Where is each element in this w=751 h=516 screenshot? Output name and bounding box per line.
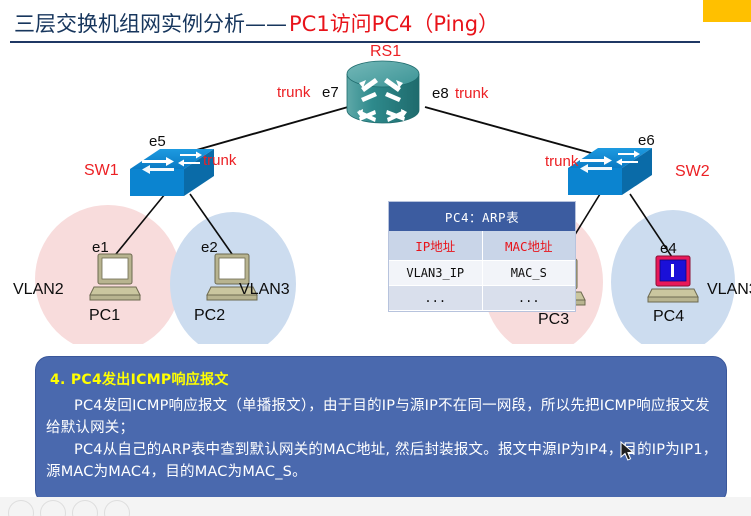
trunk-label-sw1: trunk — [203, 153, 236, 168]
page-title-sub: PC1访问PC4（Ping） — [289, 12, 499, 36]
arp-table-title: PC4：ARP表 — [389, 202, 575, 231]
sw1-label: SW1 — [84, 163, 119, 179]
rs1-router-icon — [347, 61, 419, 123]
arp-header-mac: MAC地址 — [483, 231, 576, 261]
page-title: 三层交换机组网实例分析——PC1访问PC4（Ping） — [14, 8, 499, 38]
port-label-e6: e6 — [638, 133, 655, 148]
trunk-label-sw2: trunk — [545, 154, 578, 169]
more-icon[interactable] — [104, 500, 130, 516]
port-label-e1: e1 — [92, 240, 109, 255]
trunk-label-e8: trunk — [455, 86, 488, 101]
link-rs1-sw2 — [425, 107, 602, 156]
port-label-e4: e4 — [660, 241, 677, 256]
arp-table-row: VLAN3_IP MAC_S — [389, 261, 575, 286]
mouse-cursor — [620, 441, 636, 463]
port-label-e7: e7 — [322, 85, 339, 100]
arp-table-header-row: IP地址 MAC地址 — [389, 231, 575, 261]
vlan3-right-label: VLAN3 — [707, 282, 751, 298]
network-diagram: RS1 SW1 SW2 trunk e7 e8 trunk e5 trunk e… — [0, 44, 751, 344]
pc1-computer-icon — [90, 254, 140, 300]
save-icon[interactable] — [40, 500, 66, 516]
sw2-switch-icon — [568, 148, 652, 195]
rs1-label: RS1 — [370, 44, 401, 60]
port-label-e2: e2 — [201, 240, 218, 255]
port-label-e5: e5 — [149, 134, 166, 149]
search-icon[interactable] — [72, 500, 98, 516]
explanation-paragraph-1: PC4发回ICMP响应报文（单播报文），由于目的IP与源IP不在同一网段，所以先… — [46, 395, 720, 439]
arp-cell-ip: VLAN3_IP — [389, 261, 483, 286]
accent-rectangle — [703, 0, 751, 22]
pc4-computer-icon — [648, 256, 698, 302]
explanation-box: 4. PC4发出ICMP响应报文 PC4发回ICMP响应报文（单播报文），由于目… — [35, 356, 727, 504]
pc2-label: PC2 — [194, 308, 225, 324]
pc4-label: PC4 — [653, 309, 684, 325]
diagram-graphics — [0, 44, 751, 344]
arp-cell-mac-ellipsis: ... — [483, 286, 576, 311]
arp-cell-mac: MAC_S — [483, 261, 576, 286]
slide-canvas: 三层交换机组网实例分析——PC1访问PC4（Ping） — [0, 0, 751, 516]
arp-cell-ip-ellipsis: ... — [389, 286, 483, 311]
arp-table-row: ... ... — [389, 286, 575, 311]
sw1-switch-icon — [130, 149, 214, 196]
pc1-label: PC1 — [89, 308, 120, 324]
pc3-label: PC3 — [538, 312, 569, 328]
vlan3-left-label: VLAN3 — [239, 282, 290, 298]
arp-header-ip: IP地址 — [389, 231, 483, 261]
title-divider — [10, 41, 700, 43]
trunk-label-e7: trunk — [277, 85, 310, 100]
page-title-main: 三层交换机组网实例分析—— — [14, 12, 287, 36]
port-label-e8: e8 — [432, 86, 449, 101]
viewer-toolbar — [0, 497, 751, 516]
explanation-body: PC4发回ICMP响应报文（单播报文），由于目的IP与源IP不在同一网段，所以先… — [36, 389, 726, 483]
sw2-label: SW2 — [675, 164, 710, 180]
pen-icon[interactable] — [8, 500, 34, 516]
explanation-heading: 4. PC4发出ICMP响应报文 — [36, 357, 726, 389]
vlan2-label: VLAN2 — [13, 282, 64, 298]
pc4-arp-table: PC4：ARP表 IP地址 MAC地址 VLAN3_IP MAC_S ... .… — [388, 201, 576, 312]
explanation-paragraph-2: PC4从自己的ARP表中查到默认网关的MAC地址, 然后封装报文。报文中源IP为… — [46, 439, 720, 483]
